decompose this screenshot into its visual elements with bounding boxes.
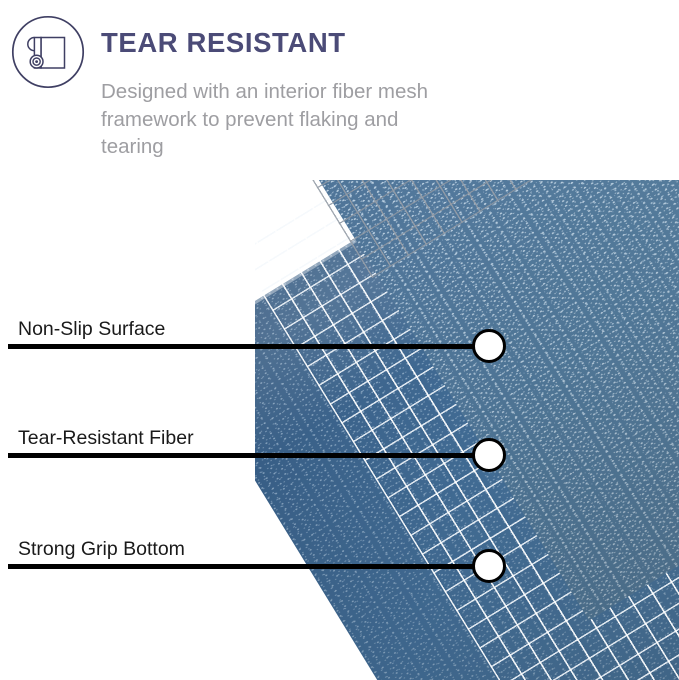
callout-dot-strong-grip-bottom <box>472 549 506 583</box>
feature-description: Designed with an interior fiber mesh fra… <box>101 78 461 161</box>
callout-dot-tear-resistant-fiber <box>472 438 506 472</box>
callout-label-strong-grip-bottom: Strong Grip Bottom <box>18 538 185 561</box>
callout-rule-non-slip-surface <box>8 344 474 349</box>
header-block: TEAR RESISTANT Designed with an interior… <box>0 0 679 180</box>
callout-rule-strong-grip-bottom <box>8 564 474 569</box>
tear-resistant-feature-infographic: TEAR RESISTANT Designed with an interior… <box>0 0 679 680</box>
callout-dot-non-slip-surface <box>472 329 506 363</box>
callout-rule-tear-resistant-fiber <box>8 453 474 458</box>
product-photo <box>255 180 679 680</box>
callout-label-non-slip-surface: Non-Slip Surface <box>18 318 165 341</box>
page-title: TEAR RESISTANT <box>101 27 346 59</box>
rolled-mat-icon <box>11 15 85 89</box>
callout-label-tear-resistant-fiber: Tear-Resistant Fiber <box>18 427 194 450</box>
